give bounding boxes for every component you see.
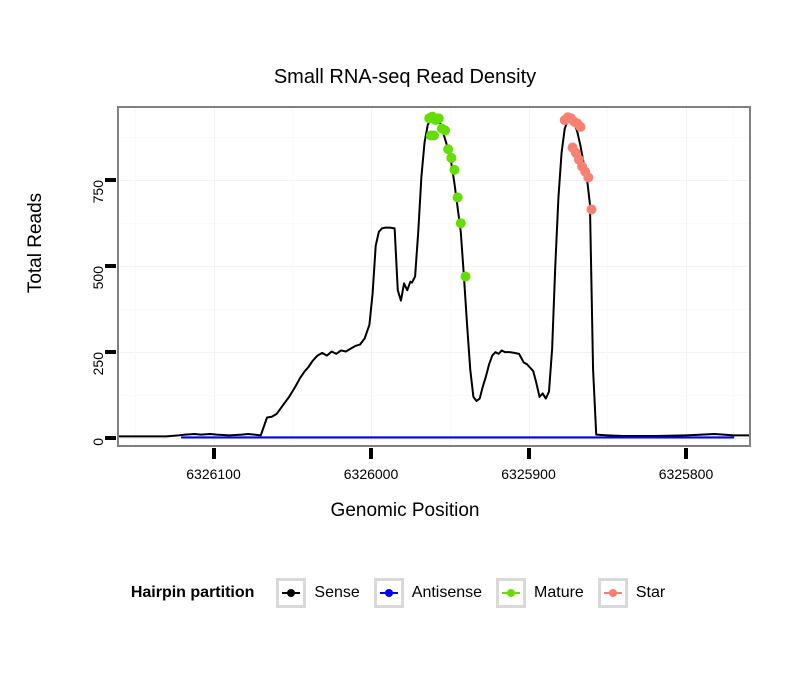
data-point <box>449 165 459 175</box>
legend-key-icon <box>496 578 526 608</box>
legend-key-icon <box>276 578 306 608</box>
data-point <box>461 272 471 282</box>
legend-label: Star <box>636 584 665 602</box>
x-tick-label: 6326100 <box>186 466 241 482</box>
x-tick-label: 6326000 <box>344 466 399 482</box>
y-tick-label: 0 <box>90 438 106 498</box>
y-tick-mark <box>105 436 116 440</box>
legend-entry-mature[interactable]: Mature <box>496 578 584 608</box>
y-tick-label: 750 <box>90 180 106 240</box>
data-point <box>453 192 463 202</box>
legend-key-dot-icon <box>287 589 295 597</box>
legend-entry-sense[interactable]: Sense <box>276 578 359 608</box>
y-tick-mark <box>105 350 116 354</box>
data-point <box>456 218 466 228</box>
data-point <box>587 204 597 214</box>
y-axis-title: Total Reads <box>25 153 47 333</box>
legend-key-dot-icon <box>507 589 515 597</box>
legend-key-icon <box>598 578 628 608</box>
data-point <box>440 125 450 135</box>
legend-label: Antisense <box>412 584 482 602</box>
legend-label: Mature <box>534 584 584 602</box>
series-line-sense <box>119 117 749 436</box>
y-tick-label: 250 <box>90 352 106 412</box>
data-point <box>583 172 593 182</box>
legend-entry-star[interactable]: Star <box>598 578 665 608</box>
plot-area <box>119 108 749 445</box>
data-point <box>446 153 456 163</box>
legend-key-dot-icon <box>609 589 617 597</box>
legend: Hairpin partition SenseAntisenseMatureSt… <box>0 578 810 608</box>
y-tick-mark <box>105 264 116 268</box>
plot-panel <box>117 106 751 447</box>
legend-key-icon <box>374 578 404 608</box>
legend-title: Hairpin partition <box>131 584 255 602</box>
data-point <box>426 131 436 141</box>
series-points-mature <box>424 112 470 282</box>
x-tick-label: 6325800 <box>659 466 714 482</box>
legend-label: Sense <box>314 584 359 602</box>
y-tick-mark <box>105 178 116 182</box>
x-tick-mark <box>369 448 373 459</box>
data-series-layer <box>119 108 749 445</box>
y-tick-label: 500 <box>90 266 106 326</box>
x-tick-mark <box>527 448 531 459</box>
x-tick-label: 6325900 <box>501 466 556 482</box>
x-tick-mark <box>212 448 216 459</box>
data-point <box>434 113 444 123</box>
legend-entry-antisense[interactable]: Antisense <box>374 578 482 608</box>
legend-key-dot-icon <box>385 589 393 597</box>
chart-title: Small RNA-seq Read Density <box>0 66 810 89</box>
chart-root: Small RNA-seq Read Density Total Reads G… <box>0 0 810 690</box>
data-point <box>575 122 585 132</box>
x-axis-title: Genomic Position <box>0 500 810 522</box>
legend-entries: SenseAntisenseMatureStar <box>276 578 679 608</box>
x-tick-mark <box>684 448 688 459</box>
data-point <box>443 144 453 154</box>
